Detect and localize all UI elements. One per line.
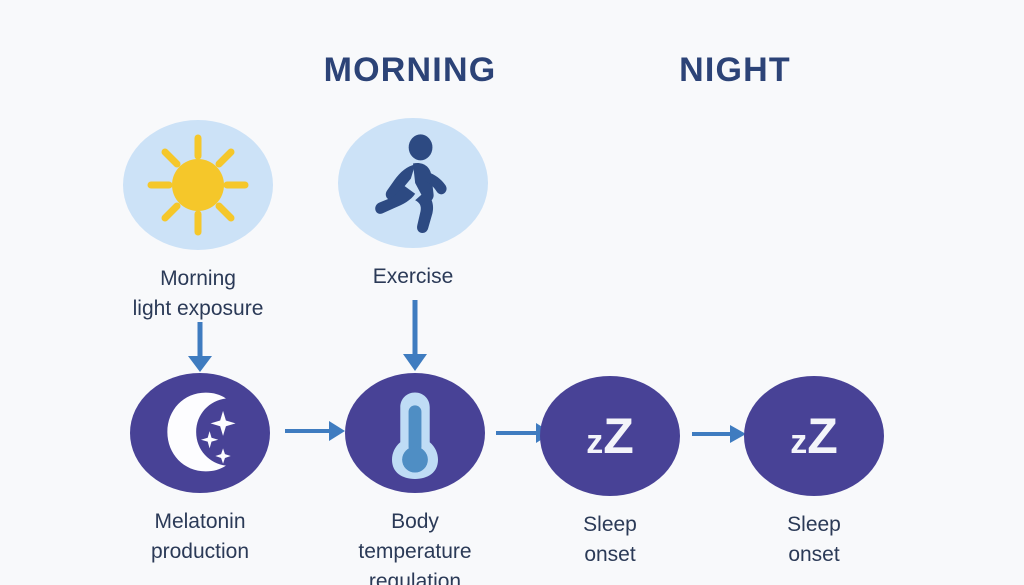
label-sleep-onset-2: Sleep onset bbox=[699, 510, 929, 570]
section-header-night: NIGHT bbox=[679, 53, 791, 87]
bubble-exercise bbox=[338, 118, 488, 248]
bubble-sleep-onset-2: zZ bbox=[744, 376, 884, 496]
label-melatonin-production: Melatonin production bbox=[85, 507, 315, 567]
arrow-exercise-to-temperature bbox=[400, 300, 430, 374]
moon-stars-icon bbox=[152, 385, 248, 481]
label-exercise: Exercise bbox=[298, 262, 528, 292]
node-sleep-onset-1: zZ Sleep onset bbox=[495, 376, 725, 570]
bubble-sleep-onset-1: zZ bbox=[540, 376, 680, 496]
sun-icon bbox=[143, 130, 253, 240]
node-melatonin-production: Melatonin production bbox=[85, 373, 315, 567]
zz-small-letter: z bbox=[586, 423, 603, 461]
bubble-morning-light bbox=[123, 120, 273, 250]
thermometer-icon bbox=[369, 387, 461, 479]
runner-icon bbox=[359, 129, 467, 237]
node-exercise: Exercise bbox=[298, 118, 528, 292]
label-sleep-onset-1: Sleep onset bbox=[495, 510, 725, 570]
zz-big-letter: Z bbox=[603, 408, 634, 464]
arrow-light-to-melatonin bbox=[185, 322, 215, 374]
section-header-morning: MORNING bbox=[324, 53, 497, 87]
sleep-zz-icon: zZ bbox=[586, 411, 634, 461]
node-morning-light-exposure: Morning light exposure bbox=[83, 120, 313, 324]
node-sleep-onset-2: zZ Sleep onset bbox=[699, 376, 929, 570]
bubble-melatonin bbox=[130, 373, 270, 493]
sleep-zz-icon: zZ bbox=[790, 411, 838, 461]
label-morning-light-exposure: Morning light exposure bbox=[83, 264, 313, 324]
circadian-rhythm-diagram: MORNING NIGHT Morning light exposure bbox=[0, 0, 1024, 585]
bubble-body-temperature bbox=[345, 373, 485, 493]
zz-big-letter: Z bbox=[807, 408, 838, 464]
zz-small-letter: z bbox=[790, 423, 807, 461]
